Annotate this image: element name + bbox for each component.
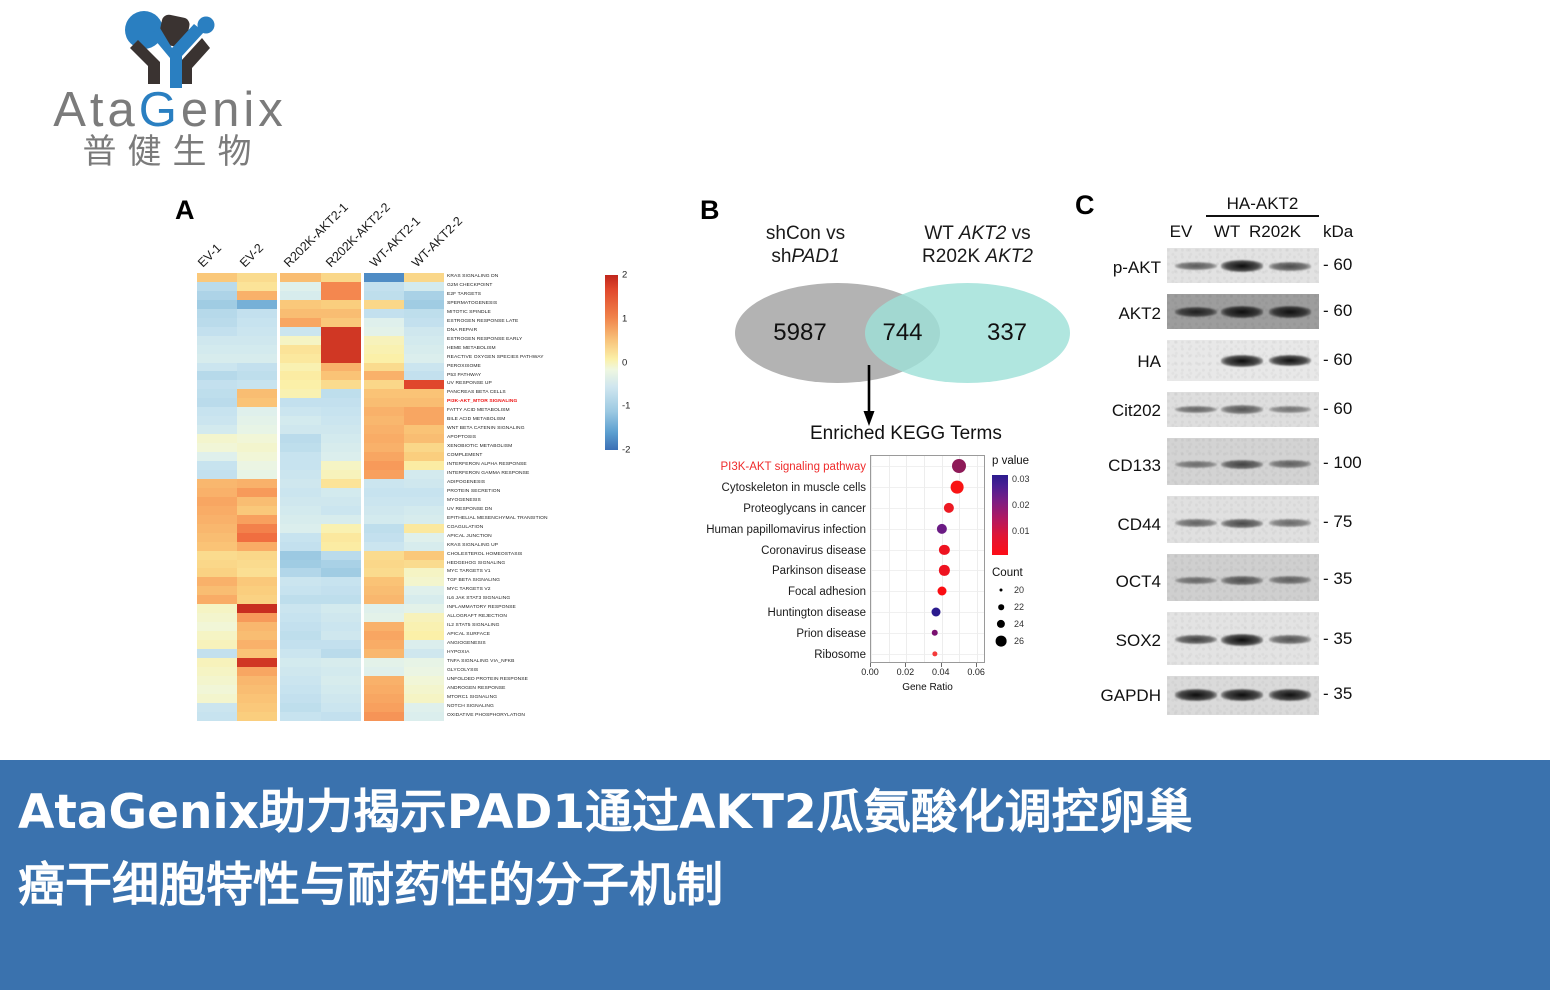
- heatmap-cell: [197, 363, 237, 372]
- heatmap-cell: [364, 712, 404, 721]
- heatmap-cell: [197, 488, 237, 497]
- colorbar-tick: 0: [622, 357, 627, 368]
- heatmap-row-label: G2M CHECKPOINT: [447, 282, 622, 291]
- heatmap-cell: [197, 604, 237, 613]
- heatmap-cell: [321, 309, 361, 318]
- heatmap-cell: [280, 425, 320, 434]
- dotplot-term-labels: PI3K-AKT signaling pathwayCytoskeleton i…: [670, 457, 866, 662]
- blot-band: [1269, 460, 1311, 468]
- blot-band: [1221, 634, 1263, 646]
- heatmap-cell: [280, 595, 320, 604]
- dotplot-point[interactable]: [950, 481, 963, 494]
- blot-kda-label: - 60: [1323, 350, 1352, 370]
- dotplot-xtick-label: 0.02: [897, 667, 915, 677]
- dotplot-point[interactable]: [939, 565, 949, 575]
- blot-lane-label: EV: [1159, 222, 1203, 242]
- heatmap-cell: [237, 506, 277, 515]
- heatmap-cell: [237, 551, 277, 560]
- blot-band: [1221, 405, 1263, 414]
- heatmap-cell: [321, 470, 361, 479]
- heatmap-cell: [364, 336, 404, 345]
- dotplot-point[interactable]: [939, 544, 949, 554]
- heatmap-cell: [197, 542, 237, 551]
- heatmap-cell: [321, 685, 361, 694]
- heatmap-row-label: ADIPOGENESIS: [447, 479, 622, 488]
- colorbar-tick: 2: [622, 270, 627, 281]
- venn-count-right: 337: [967, 319, 1047, 347]
- heatmap-cell: [321, 515, 361, 524]
- dotplot-point[interactable]: [944, 503, 954, 513]
- heatmap-cell: [197, 649, 237, 658]
- heatmap-cell: [237, 363, 277, 372]
- heatmap-cell: [280, 273, 320, 282]
- heatmap-cell: [404, 533, 444, 542]
- count-legend-dot: [1000, 589, 1003, 592]
- heatmap-cell: [321, 595, 361, 604]
- heatmap-cell: [280, 694, 320, 703]
- heatmap-cell: [197, 622, 237, 631]
- panel-c-letter: C: [1075, 190, 1095, 221]
- heatmap-row-label: APOPTOSIS: [447, 434, 622, 443]
- heatmap-cell: [237, 380, 277, 389]
- dotplot-point[interactable]: [931, 630, 938, 637]
- heatmap-cell: [280, 506, 320, 515]
- heatmap-cell: [197, 407, 237, 416]
- count-legend-title: Count: [992, 567, 1023, 579]
- venn-count-left: 5987: [760, 319, 840, 347]
- heatmap-cell: [321, 568, 361, 577]
- heatmap-cell: [404, 613, 444, 622]
- heatmap-cell: [321, 452, 361, 461]
- heatmap-cell: [197, 515, 237, 524]
- blot-band: [1269, 635, 1311, 644]
- heatmap-cell: [364, 515, 404, 524]
- heatmap-cell: [404, 685, 444, 694]
- heatmap-cell: [280, 461, 320, 470]
- heatmap-cell: [404, 479, 444, 488]
- heatmap-cell: [404, 363, 444, 372]
- blot-band: [1175, 577, 1217, 584]
- heatmap-cell: [237, 416, 277, 425]
- kegg-dotplot: PI3K-AKT signaling pathwayCytoskeleton i…: [670, 455, 1090, 710]
- heatmap-cell: [364, 300, 404, 309]
- heatmap-cell: [364, 425, 404, 434]
- heatmap-row-label: EPITHELIAL MESENCHYMAL TRANSITION: [447, 515, 622, 524]
- dotplot-term-label: Prion disease: [796, 628, 866, 640]
- heatmap-column-label: EV-2: [237, 241, 266, 270]
- heatmap-cell: [364, 631, 404, 640]
- pvalue-legend-title: p value: [992, 455, 1029, 467]
- blot-band: [1221, 576, 1263, 585]
- heatmap-cell: [321, 640, 361, 649]
- dotplot-term-label: Ribosome: [814, 649, 866, 661]
- heatmap-cell: [404, 345, 444, 354]
- heatmap-cell: [364, 354, 404, 363]
- heatmap-row-label: OXIDATIVE PHOSPHORYLATION: [447, 712, 622, 721]
- heatmap-cell: [364, 560, 404, 569]
- heatmap-cell: [280, 300, 320, 309]
- heatmap-cell: [280, 604, 320, 613]
- heatmap-cell: [197, 416, 237, 425]
- heatmap-cell: [321, 318, 361, 327]
- heatmap-row-label: INTERFERON GAMMA RESPONSE: [447, 470, 622, 479]
- heatmap-cell: [280, 577, 320, 586]
- heatmap-cell: [237, 336, 277, 345]
- heatmap: [197, 273, 444, 721]
- heatmap-cell: [237, 488, 277, 497]
- blot-band: [1269, 519, 1311, 527]
- heatmap-cell: [404, 309, 444, 318]
- heatmap-cell: [280, 380, 320, 389]
- heatmap-column: [321, 273, 361, 721]
- blot-protein-label: SOX2: [1075, 631, 1161, 651]
- heatmap-cell: [237, 676, 277, 685]
- heatmap-cell: [404, 434, 444, 443]
- blot-protein-label: p-AKT: [1075, 258, 1161, 278]
- heatmap-cell: [404, 371, 444, 380]
- heatmap-cell: [237, 425, 277, 434]
- blot-kda-label: - 75: [1323, 512, 1352, 532]
- heatmap-cell: [364, 667, 404, 676]
- heatmap-cell: [197, 354, 237, 363]
- heatmap-cell: [321, 658, 361, 667]
- heatmap-cell: [321, 425, 361, 434]
- blot-band: [1175, 689, 1217, 701]
- blot-kda-label: - 35: [1323, 684, 1352, 704]
- blot-band: [1269, 306, 1311, 317]
- heatmap-cell: [404, 300, 444, 309]
- blot-lane-label: R202K: [1244, 222, 1306, 242]
- heatmap-cell: [237, 640, 277, 649]
- heatmap-cell: [280, 685, 320, 694]
- count-legend-label: 22: [1014, 602, 1024, 612]
- heatmap-cell: [404, 327, 444, 336]
- pvalue-legend-tick: 0.01: [1012, 526, 1030, 536]
- heatmap-row-label: HYPOXIA: [447, 649, 622, 658]
- heatmap-row-label: ESTROGEN RESPONSE EARLY: [447, 336, 622, 345]
- blot-row: OCT4- 35: [1075, 554, 1405, 606]
- heatmap-cell: [321, 336, 361, 345]
- heatmap-cell: [364, 318, 404, 327]
- venn-count-overlap: 744: [865, 319, 940, 347]
- count-legend-label: 20: [1014, 585, 1024, 595]
- heatmap-cell: [237, 515, 277, 524]
- heatmap-cell: [404, 452, 444, 461]
- heatmap-cell: [404, 649, 444, 658]
- heatmap-cell: [197, 318, 237, 327]
- heatmap-cell: [321, 327, 361, 336]
- heatmap-cell: [237, 443, 277, 452]
- heatmap-cell: [237, 613, 277, 622]
- heatmap-cell: [280, 470, 320, 479]
- heatmap-cell: [280, 363, 320, 372]
- heatmap-cell: [237, 604, 277, 613]
- dotplot-xtick-label: 0.00: [861, 667, 879, 677]
- heatmap-row-label: MITOTIC SPINDLE: [447, 309, 622, 318]
- panel-b: B shCon vs shPAD1 WT AKT2 vs R202K AKT2 …: [690, 195, 1090, 715]
- heatmap-cell: [197, 327, 237, 336]
- heatmap-cell: [197, 568, 237, 577]
- blot-image: [1167, 294, 1319, 329]
- heatmap-cell: [404, 336, 444, 345]
- heatmap-cell: [321, 613, 361, 622]
- heatmap-row-label: UNFOLDED PROTEIN RESPONSE: [447, 676, 622, 685]
- heatmap-cell: [280, 345, 320, 354]
- heatmap-cell: [321, 345, 361, 354]
- panel-c: C HA-AKT2 EVWTR202KkDa p-AKT- 60AKT2- 60…: [1075, 190, 1405, 720]
- heatmap-cell: [237, 622, 277, 631]
- dotplot-term-label: Huntington disease: [768, 607, 866, 619]
- heatmap-row-label: PI3K-AKT_MTOR SIGNALING: [447, 398, 622, 407]
- heatmap-cell: [321, 667, 361, 676]
- dotplot-term-label: Focal adhesion: [788, 586, 866, 598]
- heatmap-cell: [197, 273, 237, 282]
- article-title-banner: AtaGenix助力揭示PAD1通过AKT2瓜氨酸化调控卵巢 癌干细胞特性与耐药…: [0, 760, 1550, 990]
- heatmap-cell: [364, 363, 404, 372]
- heatmap-cell: [237, 318, 277, 327]
- heatmap-row-label: MYC TARGETS V1: [447, 568, 622, 577]
- heatmap-column-group: [364, 273, 444, 721]
- heatmap-row-label: SPERMATOGENESIS: [447, 300, 622, 309]
- blot-band: [1175, 461, 1217, 468]
- heatmap-cell: [197, 694, 237, 703]
- heatmap-cell: [237, 434, 277, 443]
- heatmap-cell: [197, 300, 237, 309]
- heatmap-cell: [404, 282, 444, 291]
- dotplot-term-label: Parkinson disease: [772, 565, 866, 577]
- heatmap-cell: [404, 703, 444, 712]
- heatmap-cell: [237, 282, 277, 291]
- heatmap-cell: [280, 452, 320, 461]
- heatmap-cell: [364, 282, 404, 291]
- venn-left-title-line2: shPAD1: [771, 246, 839, 267]
- heatmap-cell: [197, 371, 237, 380]
- heatmap-column: [364, 273, 404, 721]
- heatmap-cell: [321, 291, 361, 300]
- heatmap-cell: [237, 649, 277, 658]
- blot-row: CD44- 75: [1075, 496, 1405, 548]
- blot-row: CD133- 100: [1075, 438, 1405, 490]
- heatmap-row-label: ESTROGEN RESPONSE LATE: [447, 318, 622, 327]
- blot-row: HA- 60: [1075, 340, 1405, 386]
- banner-title-line2: 癌干细胞特性与耐药性的分子机制: [18, 857, 1532, 916]
- heatmap-cell: [321, 407, 361, 416]
- heatmap-cell: [321, 649, 361, 658]
- blot-image: [1167, 676, 1319, 715]
- dotplot-term-label: Cytoskeleton in muscle cells: [722, 482, 866, 494]
- heatmap-cell: [321, 586, 361, 595]
- heatmap-row-label: APICAL JUNCTION: [447, 533, 622, 542]
- heatmap-cell: [280, 309, 320, 318]
- heatmap-cell: [364, 461, 404, 470]
- heatmap-cell: [404, 568, 444, 577]
- blot-kda-label: - 60: [1323, 301, 1352, 321]
- heatmap-cell: [321, 461, 361, 470]
- heatmap-cell: [364, 622, 404, 631]
- heatmap-cell: [197, 497, 237, 506]
- heatmap-cell: [237, 703, 277, 712]
- heatmap-row-label: FATTY ACID METABOLISM: [447, 407, 622, 416]
- count-legend-dot: [998, 604, 1004, 610]
- heatmap-cell: [404, 354, 444, 363]
- heatmap-cell: [197, 398, 237, 407]
- heatmap-cell: [280, 282, 320, 291]
- heatmap-cell: [197, 703, 237, 712]
- dotplot-point[interactable]: [932, 651, 937, 656]
- heatmap-cell: [404, 407, 444, 416]
- heatmap-cell: [237, 685, 277, 694]
- pvalue-legend-tick: 0.02: [1012, 500, 1030, 510]
- heatmap-cell: [404, 542, 444, 551]
- heatmap-row-label: E2F TARGETS: [447, 291, 622, 300]
- heatmap-cell: [237, 309, 277, 318]
- heatmap-cell: [364, 327, 404, 336]
- heatmap-cell: [197, 291, 237, 300]
- heatmap-cell: [404, 667, 444, 676]
- heatmap-cell: [321, 497, 361, 506]
- heatmap-cell: [321, 273, 361, 282]
- banner-title-line1: AtaGenix助力揭示PAD1通过AKT2瓜氨酸化调控卵巢: [18, 784, 1532, 843]
- heatmap-cell: [280, 336, 320, 345]
- heatmap-cell: [321, 380, 361, 389]
- heatmap-cell: [280, 318, 320, 327]
- heatmap-row-label: ANGIOGENESIS: [447, 640, 622, 649]
- heatmap-cell: [197, 533, 237, 542]
- heatmap-cell: [404, 586, 444, 595]
- blot-lane-label: WT: [1205, 222, 1249, 242]
- blot-band: [1269, 355, 1311, 367]
- heatmap-row-label: HEME METABOLISM: [447, 345, 622, 354]
- dotplot-xaxis-label: Gene Ratio: [870, 682, 985, 693]
- heatmap-cell: [364, 497, 404, 506]
- count-legend-dot: [996, 636, 1007, 647]
- heatmap-cell: [364, 658, 404, 667]
- heatmap-row-label: COAGULATION: [447, 524, 622, 533]
- heatmap-row-label: UV RESPONSE UP: [447, 380, 622, 389]
- heatmap-cell: [237, 524, 277, 533]
- heatmap-cell: [197, 380, 237, 389]
- heatmap-cell: [321, 551, 361, 560]
- heatmap-cell: [364, 345, 404, 354]
- heatmap-cell: [237, 658, 277, 667]
- heatmap-row-label: NOTCH SIGNALING: [447, 703, 622, 712]
- heatmap-cell: [404, 461, 444, 470]
- heatmap-cell: [237, 667, 277, 676]
- heatmap-cell: [197, 336, 237, 345]
- heatmap-cell: [237, 712, 277, 721]
- heatmap-row-label: PEROXISOME: [447, 363, 622, 372]
- blot-band: [1269, 406, 1311, 413]
- heatmap-row-label: P53 PATHWAY: [447, 371, 622, 380]
- heatmap-cell: [197, 506, 237, 515]
- heatmap-cell: [404, 416, 444, 425]
- heatmap-cell: [321, 371, 361, 380]
- dotplot-term-label: PI3K-AKT signaling pathway: [720, 461, 866, 473]
- heatmap-cell: [321, 488, 361, 497]
- heatmap-cell: [280, 407, 320, 416]
- heatmap-row-label: KRAS SIGNALING UP: [447, 542, 622, 551]
- heatmap-cell: [280, 649, 320, 658]
- colorbar-tick: 1: [622, 313, 627, 324]
- heatmap-cell: [280, 613, 320, 622]
- heatmap-row-label: MYOGENESIS: [447, 497, 622, 506]
- blot-image: [1167, 612, 1319, 665]
- heatmap-cell: [237, 345, 277, 354]
- heatmap-cell: [280, 640, 320, 649]
- heatmap-column: [197, 273, 237, 721]
- heatmap-row-label: IL2 STAT5 SIGNALING: [447, 622, 622, 631]
- heatmap-cell: [321, 443, 361, 452]
- heatmap-cell: [364, 506, 404, 515]
- heatmap-cell: [364, 694, 404, 703]
- heatmap-cell: [197, 282, 237, 291]
- heatmap-cell: [197, 685, 237, 694]
- colorbar-tick: -2: [622, 445, 630, 456]
- dotplot-gridline-v: [871, 456, 872, 662]
- heatmap-row-label: UV RESPONSE DN: [447, 506, 622, 515]
- heatmap-cell: [197, 389, 237, 398]
- heatmap-cell: [321, 506, 361, 515]
- blot-band: [1269, 689, 1311, 701]
- blot-band: [1175, 519, 1217, 527]
- heatmap-cell: [237, 300, 277, 309]
- heatmap-cell: [404, 577, 444, 586]
- blot-band: [1269, 576, 1311, 584]
- heatmap-cell: [364, 380, 404, 389]
- heatmap-cell: [321, 542, 361, 551]
- dotplot-point[interactable]: [937, 587, 946, 596]
- heatmap-cell: [364, 389, 404, 398]
- blot-kda-label: - 35: [1323, 629, 1352, 649]
- heatmap-cell: [404, 497, 444, 506]
- heatmap-cell: [364, 685, 404, 694]
- heatmap-cell: [364, 273, 404, 282]
- count-legend-dot: [997, 620, 1005, 628]
- heatmap-column-group: [197, 273, 277, 721]
- figure-container: A EV-1EV-2R202K-AKT2-1R202K-AKT2-2WT-AKT…: [0, 0, 1550, 760]
- dotplot-point[interactable]: [952, 459, 966, 473]
- heatmap-cell: [197, 309, 237, 318]
- heatmap-row-label: DNA REPAIR: [447, 327, 622, 336]
- heatmap-cell: [321, 533, 361, 542]
- blot-protein-label: AKT2: [1075, 304, 1161, 324]
- heatmap-row-labels: KRAS SIGNALING DNG2M CHECKPOINTE2F TARGE…: [447, 273, 622, 721]
- dotplot-term-label: Human papillomavirus infection: [706, 524, 866, 536]
- blot-kda-label: - 60: [1323, 399, 1352, 419]
- heatmap-cell: [197, 452, 237, 461]
- heatmap-cell: [364, 604, 404, 613]
- heatmap-cell: [404, 631, 444, 640]
- blot-protein-label: GAPDH: [1075, 686, 1161, 706]
- down-arrow-icon: [862, 365, 876, 427]
- blot-band: [1221, 519, 1263, 528]
- heatmap-cell: [404, 658, 444, 667]
- blot-row: GAPDH- 35: [1075, 676, 1405, 720]
- blot-row: p-AKT- 60: [1075, 248, 1405, 288]
- heatmap-cell: [321, 631, 361, 640]
- heatmap-row-label: XENOBIOTIC METABOLISM: [447, 443, 622, 452]
- heatmap-cell: [321, 604, 361, 613]
- heatmap-row-label: COMPLEMENT: [447, 452, 622, 461]
- heatmap-cell: [237, 291, 277, 300]
- dotplot-point[interactable]: [931, 608, 940, 617]
- heatmap-cell: [197, 613, 237, 622]
- heatmap-cell: [197, 595, 237, 604]
- heatmap-column: [404, 273, 444, 721]
- heatmap-row-label: ANDROGEN RESPONSE: [447, 685, 622, 694]
- heatmap-row-label: CHOLESTEROL HOMEOSTASIS: [447, 551, 622, 560]
- dotplot-point[interactable]: [937, 524, 947, 534]
